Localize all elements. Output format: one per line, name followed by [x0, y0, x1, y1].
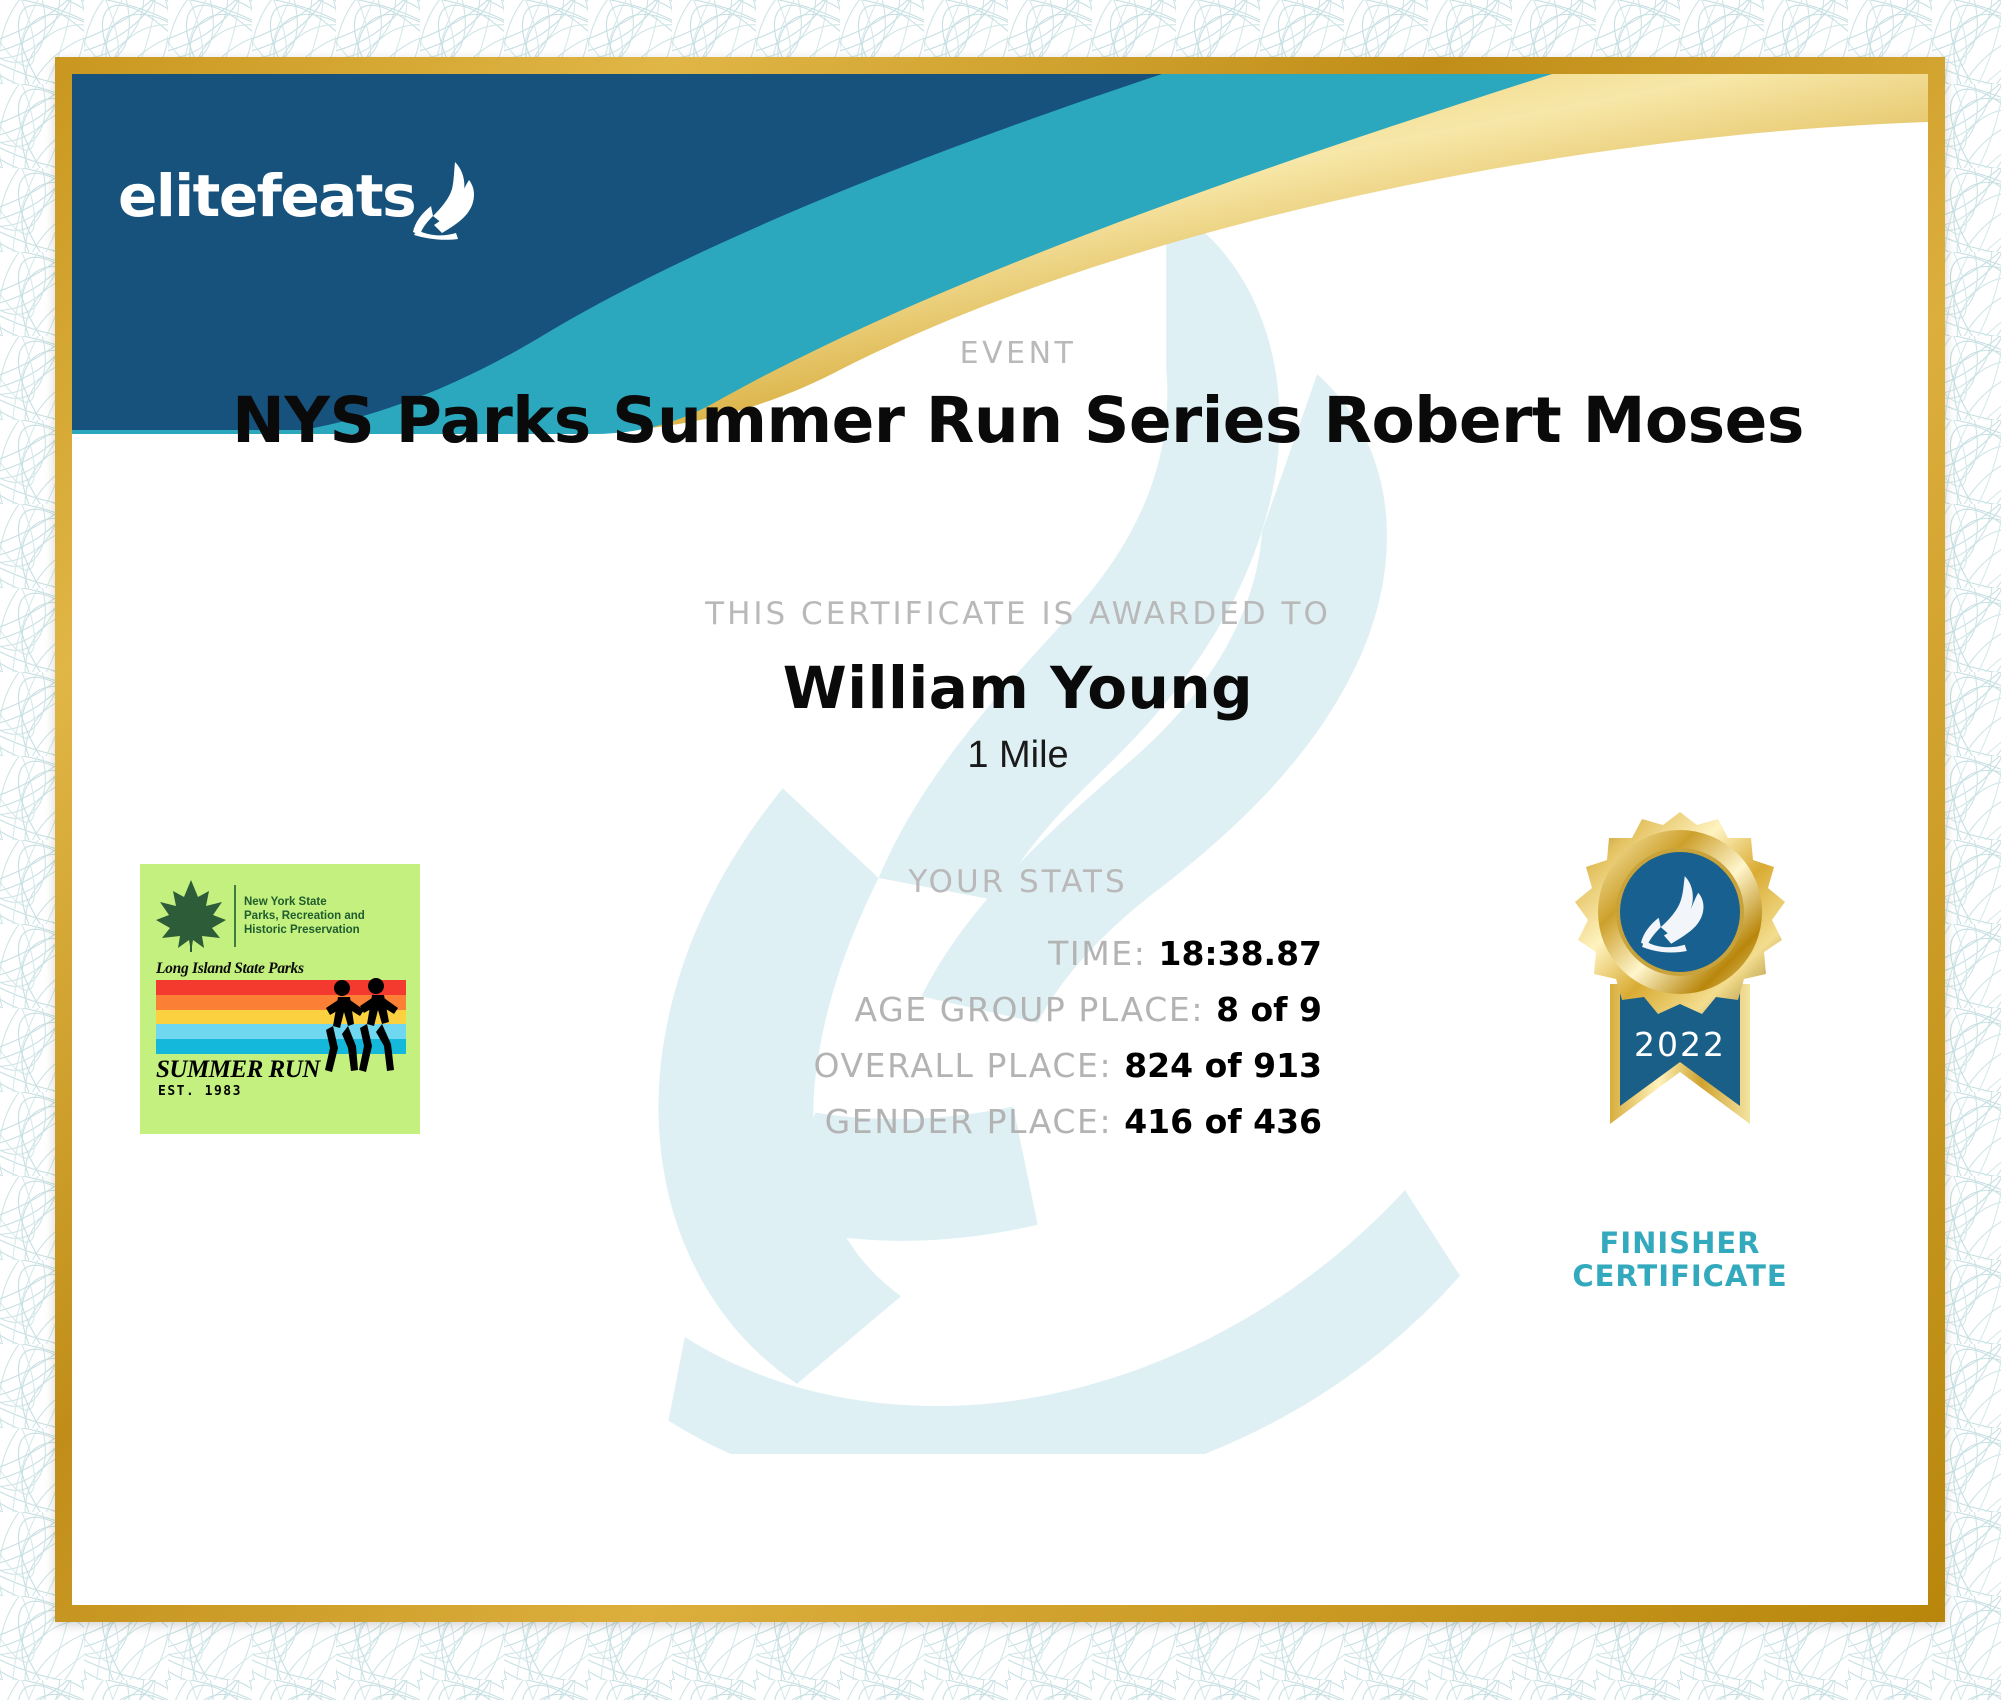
agency-line-2: Parks, Recreation and [244, 909, 365, 923]
medal-graphic: 2022 [1520, 794, 1840, 1214]
race-distance: 1 Mile [90, 734, 1928, 777]
event-title: NYS Parks Summer Run Series Robert Moses [90, 384, 1928, 457]
agency-name: New York State Parks, Recreation and His… [244, 895, 365, 937]
stat-value: 8 of 9 [1216, 990, 1322, 1029]
stat-label: OVERALL PLACE: [814, 1046, 1113, 1085]
caption-line-1: FINISHER [1520, 1227, 1840, 1260]
stat-label: AGE GROUP PLACE: [854, 990, 1204, 1029]
stat-value: 416 of 436 [1124, 1102, 1322, 1141]
gold-frame: elitefeats EVENT NYS Parks Summer Run Se… [55, 57, 1945, 1622]
medal-rosette [1575, 812, 1785, 1014]
rainbow-stripes [156, 980, 406, 1054]
finisher-medal: 2022 FINISHER CERTIFICATE [1520, 794, 1840, 1294]
medal-caption: FINISHER CERTIFICATE [1520, 1227, 1840, 1294]
medal-year: 2022 [1634, 1025, 1726, 1064]
certificate-body: elitefeats EVENT NYS Parks Summer Run Se… [72, 74, 1928, 1605]
stat-label: GENDER PLACE: [825, 1102, 1113, 1141]
stat-label: TIME: [1048, 934, 1146, 973]
runners-icon [316, 976, 400, 1088]
maple-leaf-icon [154, 878, 228, 954]
recipient-name: William Young [90, 654, 1928, 722]
sponsor-logo: New York State Parks, Recreation and His… [140, 864, 420, 1134]
certificate-page: elitefeats EVENT NYS Parks Summer Run Se… [0, 0, 2001, 1700]
caption-line-2: CERTIFICATE [1520, 1260, 1840, 1293]
event-kicker: EVENT [90, 336, 1928, 371]
stat-value: 824 of 913 [1124, 1046, 1322, 1085]
stat-value: 18:38.87 [1158, 934, 1322, 973]
agency-line-1: New York State [244, 895, 365, 909]
content-area: EVENT NYS Parks Summer Run Series Robert… [72, 74, 1928, 1605]
logo-divider [234, 885, 236, 947]
awarded-to-kicker: THIS CERTIFICATE IS AWARDED TO [90, 596, 1928, 632]
nys-parks-lockup: New York State Parks, Recreation and His… [140, 864, 420, 960]
agency-line-3: Historic Preservation [244, 923, 365, 937]
